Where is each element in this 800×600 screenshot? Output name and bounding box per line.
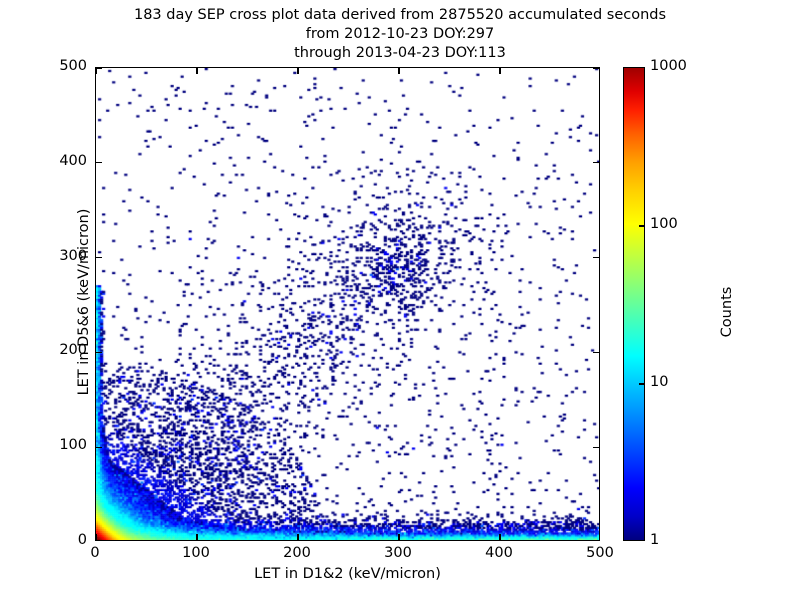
x-tick-label: 200 [257,545,337,561]
x-tick-label: 500 [560,545,640,561]
y-tick-mark [593,257,599,258]
y-axis-label: LET in D5&6 (keV/micron) [76,65,92,539]
colorbar-label: Counts [719,212,735,412]
y-tick-mark [96,352,102,353]
y-tick-label: 0 [27,532,87,548]
colorbar-tick-label: 100 [650,216,678,232]
y-tick-label: 500 [27,58,87,74]
x-axis-label: LET in D1&2 (keV/micron) [95,566,600,582]
figure-canvas: 183 day SEP cross plot data derived from… [0,0,800,600]
y-tick-mark [593,352,599,353]
x-tick-mark [398,68,399,74]
y-tick-mark [96,67,102,68]
y-tick-mark [593,447,599,448]
x-tick-mark [196,534,197,540]
colorbar-tick-label: 1000 [650,58,687,74]
x-tick-mark [297,534,298,540]
x-tick-mark [196,68,197,74]
chart-title-line-1: 183 day SEP cross plot data derived from… [0,6,800,25]
x-tick-label: 100 [156,545,236,561]
y-tick-label: 300 [27,248,87,264]
y-tick-mark [593,67,599,68]
y-tick-mark [593,162,599,163]
colorbar-tick-label: 1 [650,532,659,548]
chart-title: 183 day SEP cross plot data derived from… [0,6,800,63]
chart-title-line-2: from 2012-10-23 DOY:297 [0,25,800,44]
y-tick-mark [96,447,102,448]
colorbar-tick-mark [639,225,644,226]
y-tick-label: 200 [27,342,87,358]
y-tick-label: 100 [27,437,87,453]
y-tick-label: 400 [27,153,87,169]
x-tick-mark [95,534,96,540]
x-tick-label: 300 [358,545,438,561]
plot-axes [95,67,600,541]
x-tick-mark [95,68,96,74]
x-tick-mark [499,68,500,74]
heatmap-scatter-plot [96,68,599,540]
y-tick-mark [96,257,102,258]
colorbar-tick-mark [639,383,644,384]
x-tick-label: 400 [459,545,539,561]
x-tick-mark [499,534,500,540]
y-tick-mark [96,162,102,163]
colorbar-gradient [623,67,645,541]
x-tick-mark [398,534,399,540]
colorbar-tick-label: 10 [650,374,668,390]
x-tick-mark [297,68,298,74]
